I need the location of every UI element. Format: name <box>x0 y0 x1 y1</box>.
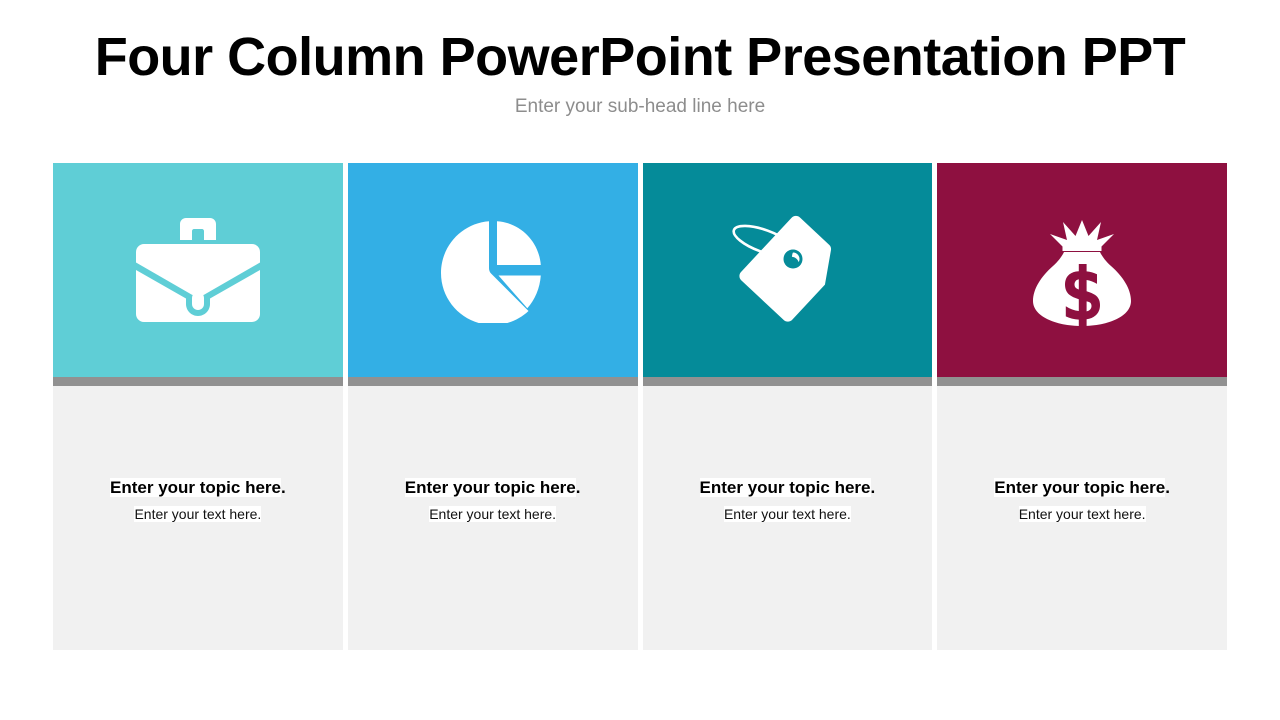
slide-header: Four Column PowerPoint Presentation PPT … <box>0 0 1280 119</box>
card-1-topic: Enter your topic here <box>110 478 281 497</box>
card-2-body: Enter your text here. <box>429 506 556 522</box>
card-1-divider <box>53 377 343 386</box>
card-2-body-wrap: Enter your text here. <box>348 504 638 525</box>
card-3-icon-panel <box>643 163 933 377</box>
card-2-text-panel: Enter your topic here. Enter your text h… <box>348 386 638 650</box>
card-3-text-panel: Enter your topic here. Enter your text h… <box>643 386 933 650</box>
card-1-text-panel: Enter your topic here. Enter your text h… <box>53 386 343 650</box>
card-4-divider <box>937 377 1227 386</box>
card-3-body-wrap: Enter your text here. <box>643 504 933 525</box>
card-3-topic-period: . <box>871 478 876 497</box>
card-2-icon-panel <box>348 163 638 377</box>
card-2-divider <box>348 377 638 386</box>
card-1[interactable]: Enter your topic here. Enter your text h… <box>53 163 343 650</box>
pie-chart-icon <box>440 217 546 323</box>
four-column-card-row: Enter your topic here. Enter your text h… <box>53 163 1227 650</box>
card-2-topic-period: . <box>576 478 581 497</box>
price-tag-icon <box>722 215 852 325</box>
page-subtitle: Enter your sub-head line here <box>0 96 1280 119</box>
card-2-topic-wrap: Enter your topic here. <box>348 474 638 501</box>
card-4-topic-period: . <box>1165 478 1170 497</box>
card-2-topic: Enter your topic here <box>405 478 576 497</box>
card-3-topic: Enter your topic here <box>700 478 871 497</box>
card-3[interactable]: Enter your topic here. Enter your text h… <box>643 163 933 650</box>
page-title: Four Column PowerPoint Presentation PPT <box>0 28 1280 86</box>
card-4-topic-wrap: Enter your topic here. <box>937 474 1227 501</box>
card-1-icon-panel <box>53 163 343 377</box>
card-4-body-wrap: Enter your text here. <box>937 504 1227 525</box>
money-bag-icon <box>1027 212 1137 328</box>
card-3-topic-wrap: Enter your topic here. <box>643 474 933 501</box>
card-4[interactable]: Enter your topic here. Enter your text h… <box>937 163 1227 650</box>
card-1-topic-wrap: Enter your topic here. <box>53 474 343 501</box>
card-3-divider <box>643 377 933 386</box>
card-1-body: Enter your text here. <box>134 506 261 522</box>
card-1-topic-period: . <box>281 478 286 497</box>
card-4-text-panel: Enter your topic here. Enter your text h… <box>937 386 1227 650</box>
card-4-topic: Enter your topic here <box>994 478 1165 497</box>
card-3-body: Enter your text here. <box>724 506 851 522</box>
card-4-icon-panel <box>937 163 1227 377</box>
briefcase-icon <box>136 218 260 322</box>
card-2[interactable]: Enter your topic here. Enter your text h… <box>348 163 638 650</box>
card-1-body-wrap: Enter your text here. <box>53 504 343 525</box>
card-4-body: Enter your text here. <box>1019 506 1146 522</box>
